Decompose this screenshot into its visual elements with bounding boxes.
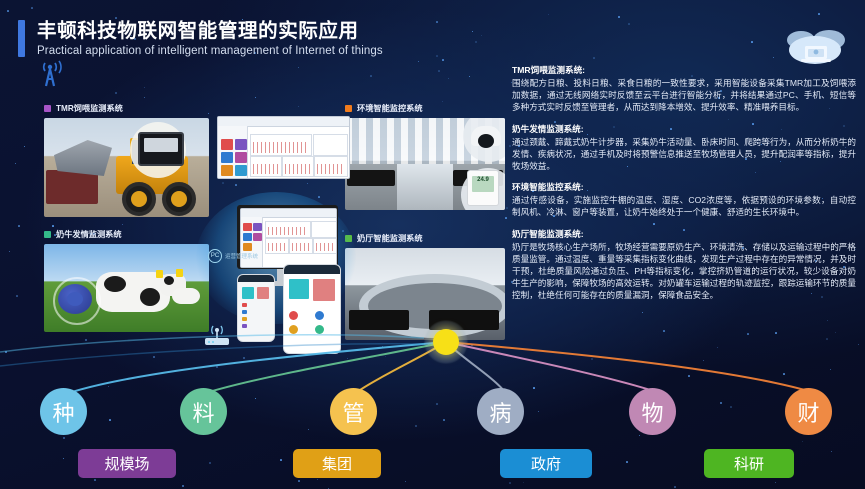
ear-tag-icon bbox=[156, 270, 163, 278]
tag-2[interactable]: 政府 bbox=[500, 449, 592, 478]
panel-tmr-label: TMR饲喂监测系统 bbox=[44, 102, 209, 114]
page-subtitle: Practical application of intelligent man… bbox=[37, 45, 383, 57]
temp-humidity-sensor: 24.9 bbox=[467, 170, 499, 206]
dairy-cow-pasture-photo bbox=[44, 244, 209, 332]
node-0[interactable]: 种 bbox=[40, 388, 87, 435]
inset-highlight-circle bbox=[53, 277, 101, 325]
node-5[interactable]: 财 bbox=[785, 388, 832, 435]
loader-wheel bbox=[162, 182, 196, 216]
description-body: 奶厅是牧场核心生产场所，牧场经营需要原奶生产、环境清洗、存储以及运输过程中的严格… bbox=[512, 241, 856, 302]
description-heading: 奶牛发情监测系统: bbox=[512, 123, 856, 135]
description-heading: 环境智能监控系统: bbox=[512, 181, 856, 193]
mobile-phone-small[interactable] bbox=[237, 274, 275, 342]
panel-milking-parlor[interactable]: 奶厅智能监测系统 bbox=[345, 232, 505, 340]
panel-label-text: 奶厅智能监测系统 bbox=[357, 232, 423, 244]
tag-0[interactable]: 规模场 bbox=[78, 449, 176, 478]
description-body: 通过传感设备，实施监控牛棚的温度、湿度、CO2浓度等，依据预设的环境参数，自动控… bbox=[512, 194, 856, 218]
mobile-phone-large[interactable] bbox=[283, 264, 341, 354]
panel-bullet-icon bbox=[345, 105, 352, 112]
cow-row bbox=[349, 310, 409, 330]
description-section-2: 环境智能监控系统:通过传感设备，实施监控牛棚的温度、湿度、CO2浓度等，依据预设… bbox=[512, 181, 856, 218]
pc-badge-icon: PC bbox=[208, 249, 222, 263]
loader-bucket bbox=[54, 140, 112, 176]
panel-label-text: 环境智能监控系统 bbox=[357, 102, 423, 114]
node-2[interactable]: 管 bbox=[330, 388, 377, 435]
pc-system-label: PC 运营管理系统 bbox=[208, 249, 258, 263]
panel-bullet-icon bbox=[44, 231, 51, 238]
panel-milking-parlor-label: 奶厅智能监测系统 bbox=[345, 232, 505, 244]
description-section-3: 奶厅智能监测系统:奶厅是牧场核心生产场所，牧场经营需要原奶生产、环境清洗、存储以… bbox=[512, 228, 856, 302]
node-1[interactable]: 料 bbox=[180, 388, 227, 435]
tag-3[interactable]: 科研 bbox=[704, 449, 794, 478]
cow-row bbox=[347, 170, 395, 186]
wheel-loader-feeding-photo bbox=[44, 118, 209, 217]
panel-label-text: 奶牛发情监测系统 bbox=[56, 228, 122, 240]
slide-header: 丰顿科技物联网智能管理的实际应用 Practical application o… bbox=[18, 20, 383, 57]
tmr-display-terminal bbox=[138, 132, 184, 166]
cow-spot bbox=[140, 288, 160, 306]
calf-body bbox=[172, 288, 200, 304]
node-3[interactable]: 病 bbox=[477, 388, 524, 435]
cow-spot bbox=[164, 276, 174, 285]
loader-wheel bbox=[122, 182, 156, 216]
panel-tmr[interactable]: TMR饲喂监测系统 bbox=[44, 102, 209, 217]
title-accent-bar bbox=[18, 20, 25, 57]
signal-tower-icon bbox=[34, 60, 68, 90]
tag-1[interactable]: 集团 bbox=[293, 449, 381, 478]
description-section-0: TMR饲喂监测系统:围绕配方日粮、投料日粮、采食日粮的一致性要求，采用智能设备采… bbox=[512, 64, 856, 114]
description-heading: TMR饲喂监测系统: bbox=[512, 64, 856, 76]
wifi-router-icon bbox=[200, 325, 234, 349]
cattle-barn-interior-photo: 24.9 bbox=[345, 118, 505, 210]
page-title: 丰顿科技物联网智能管理的实际应用 bbox=[37, 20, 383, 42]
pc-label-text: 运营管理系统 bbox=[225, 252, 258, 260]
panel-bullet-icon bbox=[44, 105, 51, 112]
description-body: 通过颈戴、蹄戴式奶牛计步器，采集奶牛活动量、卧床时间、爬跨等行为，从而分析奶牛的… bbox=[512, 136, 856, 173]
panel-environment[interactable]: 环境智能监控系统 24.9 bbox=[345, 102, 505, 210]
rotary-milking-parlor-photo bbox=[345, 248, 505, 340]
description-body: 围绕配方日粮、投料日粮、采食日粮的一致性要求，采用智能设备采集TMR加工及饲喂添… bbox=[512, 77, 856, 114]
ear-tag-icon bbox=[176, 269, 183, 277]
panel-label-text: TMR饲喂监测系统 bbox=[56, 102, 123, 114]
ptz-camera-icon bbox=[471, 126, 501, 146]
floating-dashboard[interactable] bbox=[217, 116, 350, 179]
panel-environment-label: 环境智能监控系统 bbox=[345, 102, 505, 114]
cow-spot bbox=[104, 276, 126, 292]
description-heading: 奶厅智能监测系统: bbox=[512, 228, 856, 240]
description-panel: TMR饲喂监测系统:围绕配方日粮、投料日粮、采食日粮的一致性要求，采用智能设备采… bbox=[512, 64, 856, 311]
panel-estrus-label: 奶牛发情监测系统 bbox=[44, 228, 209, 240]
central-hub-node[interactable] bbox=[433, 329, 459, 355]
panel-estrus[interactable]: 奶牛发情监测系统 bbox=[44, 228, 209, 332]
feed-mixer-wagon bbox=[46, 170, 98, 204]
barn-aisle bbox=[397, 164, 453, 210]
node-4[interactable]: 物 bbox=[629, 388, 676, 435]
slide-canvas: 丰顿科技物联网智能管理的实际应用 Practical application o… bbox=[0, 0, 865, 489]
description-section-1: 奶牛发情监测系统:通过颈戴、蹄戴式奶牛计步器，采集奶牛活动量、卧床时间、爬跨等行… bbox=[512, 123, 856, 173]
